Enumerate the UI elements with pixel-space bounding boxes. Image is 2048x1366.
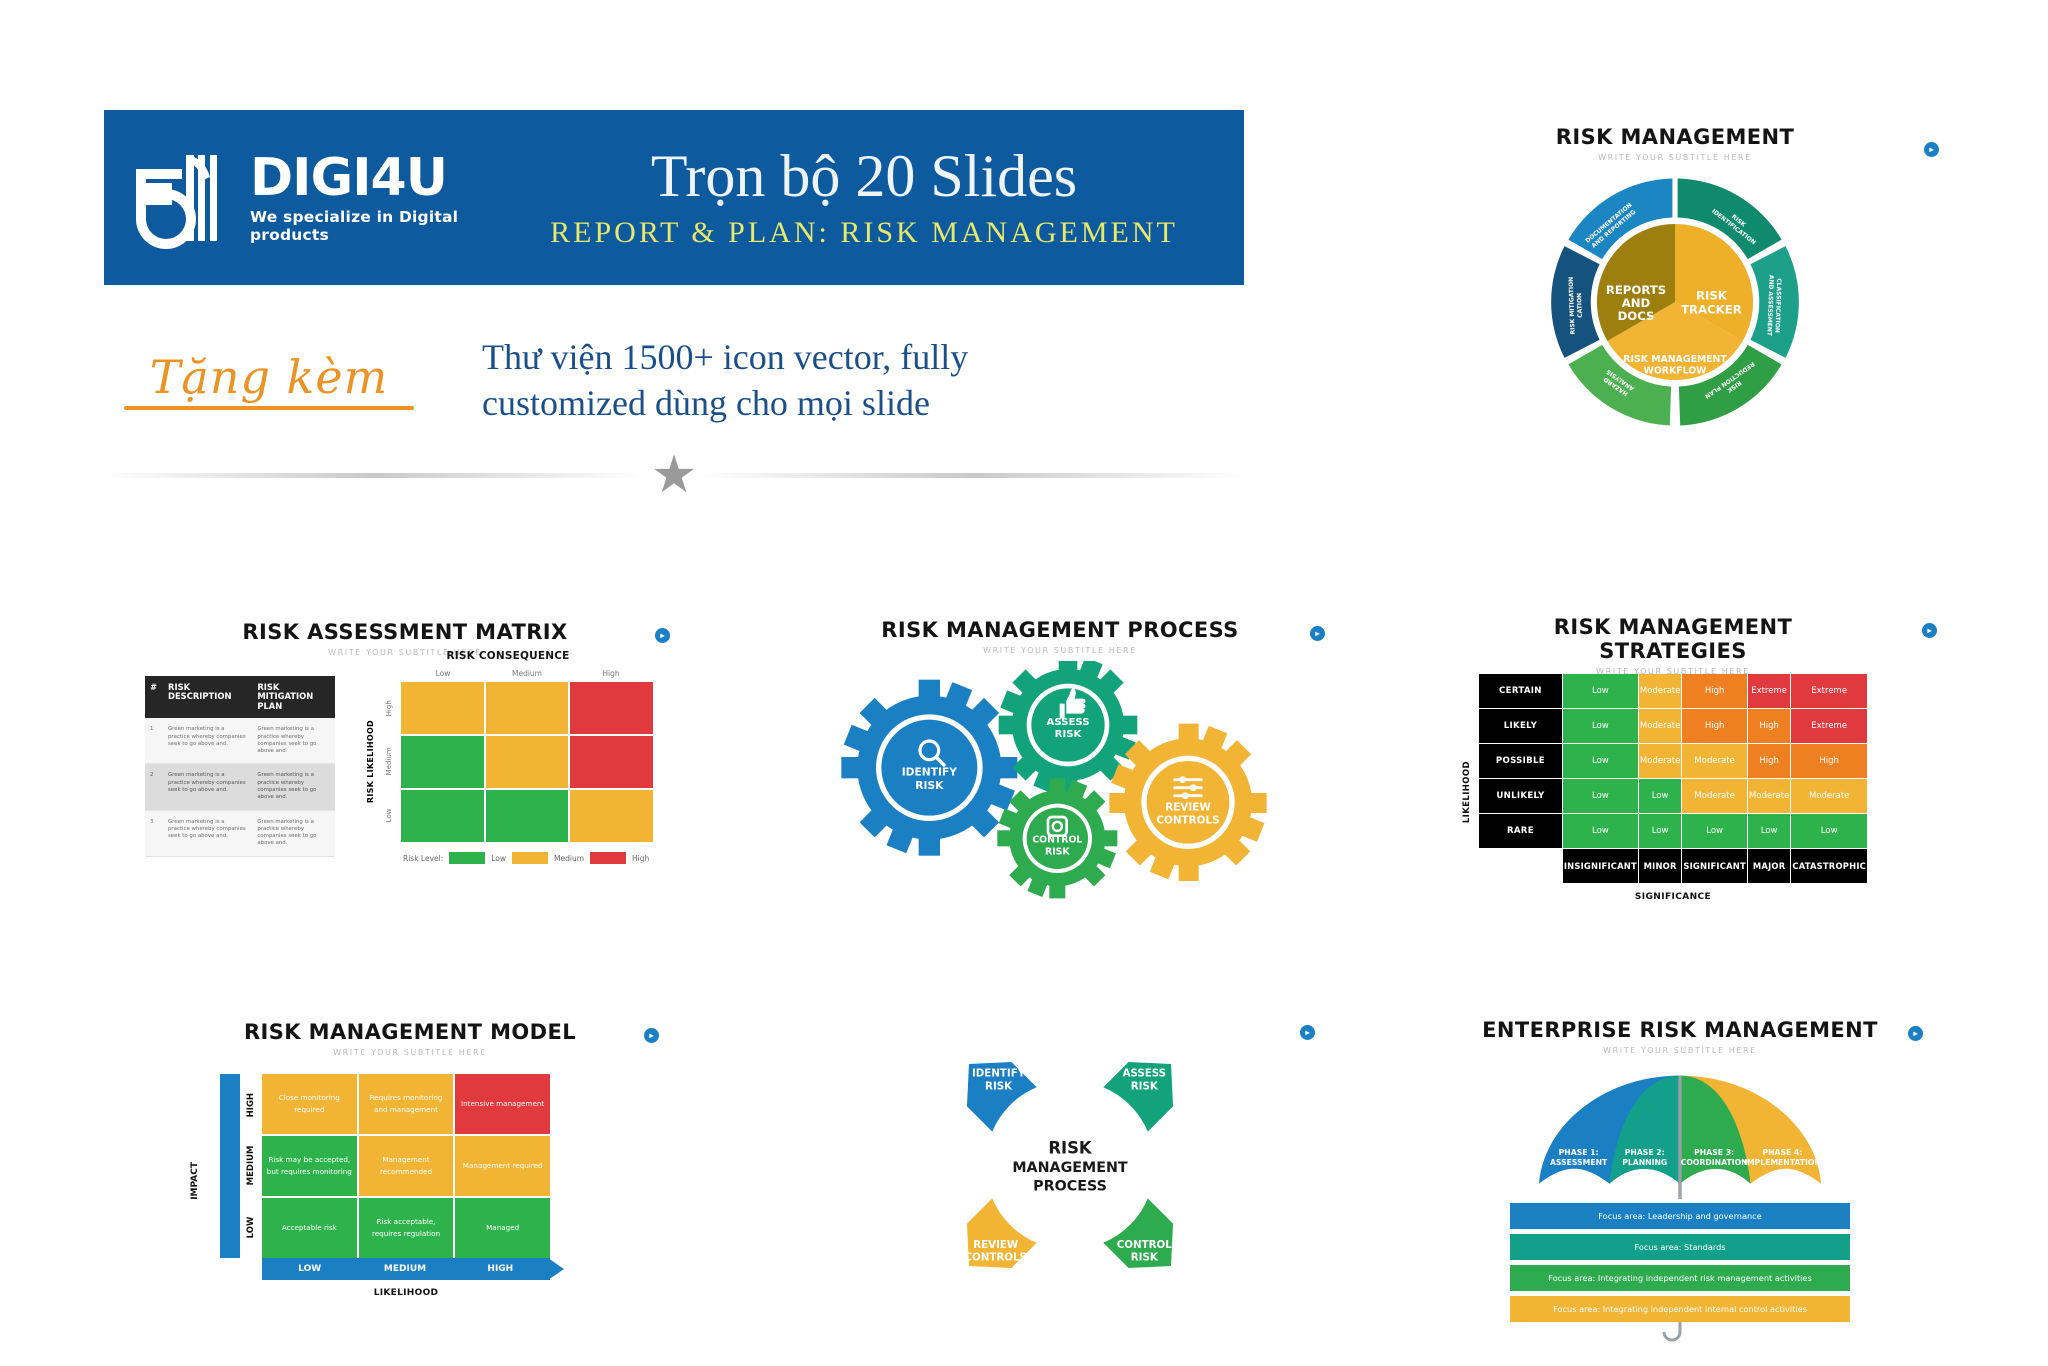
svg-text:PHASE 2:: PHASE 2: <box>1625 1148 1665 1157</box>
slide-risk-model[interactable]: RISK MANAGEMENT MODEL WRITE YOUR SUBTITL… <box>210 1020 610 1320</box>
umbrella-handle-icon <box>1660 1322 1700 1344</box>
bonus-description: Thư viện 1500+ icon vector, fully custom… <box>434 334 1244 426</box>
impact-axis-label: IMPACT <box>190 1162 200 1200</box>
y-label: LOW <box>240 1197 262 1258</box>
x-label: High <box>569 669 653 678</box>
table-row[interactable]: 3 Green marketing is a practice whereby … <box>145 810 335 856</box>
matrix-cell[interactable]: High <box>1748 744 1790 778</box>
likelihood-axis-label: LIKELIHOOD <box>262 1288 550 1298</box>
slide-title: RISK MANAGEMENT PROCESS <box>830 618 1290 642</box>
cell-mitigation: Green marketing is a practice whereby co… <box>252 764 335 810</box>
model-cells: Close monitoring required Requires monit… <box>262 1074 550 1258</box>
matrix-cell[interactable]: Moderate <box>1791 779 1867 813</box>
bonus-script-text: Tặng kèm <box>104 350 434 404</box>
row-label: UNLIKELY <box>1479 779 1562 813</box>
col-index: # <box>145 676 163 718</box>
table-row[interactable]: 1 Green marketing is a practice whereby … <box>145 718 335 764</box>
grid-cell[interactable] <box>486 790 569 842</box>
impact-likelihood-grid: IMPACT HIGH MEDIUM LOW Close monitoring … <box>220 1074 550 1298</box>
svg-text:AND: AND <box>1622 296 1651 310</box>
x-label: HIGH <box>453 1264 548 1274</box>
cell-description: Green marketing is a practice whereby co… <box>163 764 252 810</box>
x-label: LOW <box>262 1264 357 1274</box>
model-cell[interactable]: Management required <box>455 1136 550 1196</box>
model-cell[interactable]: Risk acceptable, requires regulation <box>359 1198 454 1258</box>
risk-management-donut: REPORTS AND DOCS RISK TRACKER RISK MANAG… <box>1480 172 1870 432</box>
slide-badge[interactable]: ▸ <box>644 1028 659 1043</box>
svg-text:REPORTS: REPORTS <box>1606 283 1666 297</box>
matrix-cell[interactable]: High <box>1748 709 1790 743</box>
svg-text:IMPLEMENTATION: IMPLEMENTATION <box>1744 1158 1821 1167</box>
grid-cell[interactable] <box>570 736 653 788</box>
column-label: MINOR <box>1639 849 1681 883</box>
poster-subtitle: REPORT & PLAN: RISK MANAGEMENT <box>504 216 1224 250</box>
svg-text:REVIEW: REVIEW <box>1165 801 1211 813</box>
y-label: MEDIUM <box>240 1135 262 1196</box>
strategies-table[interactable]: CERTAIN Low Moderate High Extreme Extrem… <box>1478 673 1868 884</box>
slide-risk-management[interactable]: RISK MANAGEMENT WRITE YOUR SUBTITLE HERE… <box>1480 125 1870 435</box>
matrix-cell[interactable]: Extreme <box>1748 674 1790 708</box>
matrix-cell[interactable]: Low <box>1563 744 1638 778</box>
row-label: RARE <box>1479 814 1562 848</box>
matrix-cell[interactable]: Low <box>1682 814 1747 848</box>
banner-title-block: Trọn bộ 20 Slides REPORT & PLAN: RISK MA… <box>504 145 1244 250</box>
svg-text:COORDINATION: COORDINATION <box>1681 1158 1748 1167</box>
cell-description: Green marketing is a practice whereby co… <box>163 810 252 856</box>
column-label: CATASTROPHIC <box>1791 849 1867 883</box>
x-axis-arrow: LOW MEDIUM HIGH <box>262 1258 550 1280</box>
matrix-cell[interactable]: Low <box>1791 814 1867 848</box>
poster-canvas: DIGI4U We specialize in Digital products… <box>0 0 2048 1366</box>
y-axis-arrow <box>220 1074 240 1258</box>
brand-name: DIGI4U <box>250 152 504 204</box>
cell-index: 1 <box>145 718 163 764</box>
bonus-row: Tặng kèm Thư viện 1500+ icon vector, ful… <box>104 325 1244 435</box>
svg-text:ASSESS: ASSESS <box>1122 1067 1166 1079</box>
slide-process-cycle[interactable]: ▸ RISK MANAGEMENT PROCESS IDENTIFY RISK … <box>880 1015 1260 1320</box>
col-mitigation: RISK MITIGATION PLAN <box>252 676 335 718</box>
slide-subtitle: WRITE YOUR SUBTITLE HERE <box>1480 153 1870 162</box>
y-label: HIGH <box>240 1074 262 1135</box>
strategies-matrix: LIKELIHOOD CERTAIN Low Moderate High Ext… <box>1478 673 1868 902</box>
legend-swatch-high <box>590 852 626 864</box>
legend-label: High <box>632 854 649 863</box>
matrix-cell[interactable]: High <box>1791 744 1867 778</box>
column-label: MAJOR <box>1748 849 1790 883</box>
row-label: LIKELY <box>1479 709 1562 743</box>
matrix-cell[interactable]: Low <box>1563 674 1638 708</box>
slide-subtitle: WRITE YOUR SUBTITLE HERE <box>830 646 1290 655</box>
model-cell[interactable]: Risk may be accepted, but requires monit… <box>262 1136 357 1196</box>
model-cell[interactable]: Acceptable risk <box>262 1198 357 1258</box>
poster-title: Trọn bộ 20 Slides <box>504 145 1224 208</box>
table-row[interactable]: POSSIBLE Low Moderate Moderate High High <box>1479 744 1867 778</box>
risk-consequence-grid: RISK CONSEQUENCE Low Medium High RISK LI… <box>363 650 653 864</box>
slide-subtitle: WRITE YOUR SUBTITLE HERE <box>1480 1046 1880 1055</box>
svg-text:RISK: RISK <box>1055 729 1083 740</box>
identify-risk-gear: IDENTIFY RISK <box>841 680 1017 856</box>
slide-title: RISK MANAGEMENT MODEL <box>210 1020 610 1044</box>
row-label: CERTAIN <box>1479 674 1562 708</box>
control-risk-gear: CONTROL RISK <box>997 778 1117 898</box>
risk-register-table[interactable]: # RISK DESCRIPTION RISK MITIGATION PLAN … <box>145 676 335 857</box>
grid-cell[interactable] <box>401 790 484 842</box>
svg-text:CONTROL: CONTROL <box>1032 834 1082 845</box>
grid-cell[interactable] <box>401 682 484 734</box>
grid-legend: Risk Level: Low Medium High <box>403 852 653 864</box>
brand-text: DIGI4U We specialize in Digital products <box>250 152 504 244</box>
slide-subtitle: WRITE YOUR SUBTITLE HERE <box>210 1048 610 1057</box>
svg-text:PROCESS: PROCESS <box>1033 1179 1107 1195</box>
section-divider: ★ <box>104 455 1244 495</box>
svg-text:CATION: CATION <box>1576 293 1584 318</box>
svg-text:RISK: RISK <box>1131 1080 1159 1092</box>
model-cell[interactable]: Management recommended <box>359 1136 454 1196</box>
svg-text:ASSESSMENT: ASSESSMENT <box>1550 1158 1608 1167</box>
svg-text:RISK: RISK <box>915 779 944 792</box>
svg-text:RISK MANAGEMENT: RISK MANAGEMENT <box>1623 354 1727 365</box>
grid-y-labels: High Medium Low <box>377 682 401 842</box>
bonus-underline <box>124 406 414 410</box>
x-label: Low <box>401 669 485 678</box>
matrix-cell[interactable]: Extreme <box>1791 709 1867 743</box>
table-footer-row: INSIGNIFICANT MINOR SIGNIFICANT MAJOR CA… <box>1479 849 1867 883</box>
cell-index: 3 <box>145 810 163 856</box>
grid-cells <box>401 682 653 842</box>
column-label: SIGNIFICANT <box>1682 849 1747 883</box>
focus-bar[interactable]: Focus area: Standards <box>1510 1234 1850 1260</box>
slide-badge[interactable]: ▸ <box>1300 1025 1315 1040</box>
slide-enterprise-risk[interactable]: ENTERPRISE RISK MANAGEMENT WRITE YOUR SU… <box>1480 1018 1880 1318</box>
svg-text:PHASE 4:: PHASE 4: <box>1762 1148 1802 1157</box>
svg-text:IDENTIFY: IDENTIFY <box>972 1067 1026 1079</box>
legend-swatch-low <box>449 852 485 864</box>
slide-title: RISK MANAGEMENT <box>1480 125 1870 149</box>
y-label: Low <box>377 789 401 842</box>
focus-bar[interactable]: Focus area: Leadership and governance <box>1510 1203 1850 1229</box>
y-label: Medium <box>377 735 401 788</box>
svg-text:DOCS: DOCS <box>1618 309 1655 323</box>
svg-text:RISK: RISK <box>1696 288 1728 302</box>
slide-badge[interactable]: ▸ <box>655 628 670 643</box>
cell-index: 2 <box>145 764 163 810</box>
matrix-cell[interactable]: High <box>1682 709 1747 743</box>
grid-cell[interactable] <box>570 790 653 842</box>
svg-text:CONTROL: CONTROL <box>1117 1239 1172 1251</box>
table-row[interactable]: UNLIKELY Low Low Moderate Moderate Moder… <box>1479 779 1867 813</box>
svg-text:RISK: RISK <box>1045 846 1070 857</box>
brand-tagline: We specialize in Digital products <box>250 208 504 244</box>
table-header-row: # RISK DESCRIPTION RISK MITIGATION PLAN <box>145 676 335 718</box>
matrix-cell[interactable]: Low <box>1563 709 1638 743</box>
model-cell[interactable]: Managed <box>455 1198 550 1258</box>
review-controls-gear: REVIEW CONTROLS <box>1109 724 1266 881</box>
y-axis-labels: HIGH MEDIUM LOW <box>240 1074 262 1258</box>
bonus-line-2: customized dùng cho mọi slide <box>482 380 1244 426</box>
matrix-cell[interactable]: Low <box>1748 814 1790 848</box>
slide-process-gears[interactable]: RISK MANAGEMENT PROCESS WRITE YOUR SUBTI… <box>830 618 1290 918</box>
grid-x-labels: Low Medium High <box>401 669 653 678</box>
column-label: INSIGNIFICANT <box>1563 849 1638 883</box>
matrix-cell[interactable]: Low <box>1563 814 1638 848</box>
brand-logo: DIGI4U We specialize in Digital products <box>104 139 504 257</box>
cell-description: Green marketing is a practice whereby co… <box>163 718 252 764</box>
likelihood-axis-label: LIKELIHOOD <box>1462 717 1472 867</box>
matrix-cell[interactable]: Moderate <box>1639 709 1681 743</box>
slide-badge[interactable]: ▸ <box>1908 1026 1923 1041</box>
svg-text:PHASE 1:: PHASE 1: <box>1559 1148 1599 1157</box>
x-axis-labels: LOW MEDIUM HIGH <box>262 1264 548 1274</box>
slide-badge[interactable]: ▸ <box>1310 626 1325 641</box>
grid-cell[interactable] <box>570 682 653 734</box>
svg-text:PLANNING: PLANNING <box>1622 1158 1667 1167</box>
slide-badge[interactable]: ▸ <box>1924 142 1939 157</box>
matrix-cell[interactable]: Low <box>1639 779 1681 813</box>
svg-text:REVIEW: REVIEW <box>973 1239 1018 1251</box>
cell-mitigation: Green marketing is a practice whereby co… <box>252 718 335 764</box>
svg-text:CONTROLS: CONTROLS <box>965 1252 1027 1264</box>
matrix-cell[interactable]: Moderate <box>1748 779 1790 813</box>
slide-badge[interactable]: ▸ <box>1922 623 1937 638</box>
matrix-cell[interactable]: Moderate <box>1682 744 1747 778</box>
divider-line-right <box>703 473 1244 478</box>
grid-y-axis-title: RISK LIKELIHOOD <box>363 682 377 842</box>
svg-text:CONTROLS: CONTROLS <box>1156 815 1219 827</box>
digi4u-logo-icon <box>128 139 240 257</box>
slide-assessment-matrix[interactable]: RISK ASSESSMENT MATRIX WRITE YOUR SUBTIT… <box>145 620 665 910</box>
legend-label: Low <box>491 854 506 863</box>
table-row[interactable]: 2 Green marketing is a practice whereby … <box>145 764 335 810</box>
bonus-script-label: Tặng kèm <box>104 350 434 410</box>
row-label: POSSIBLE <box>1479 744 1562 778</box>
legend-label: Medium <box>554 854 584 863</box>
svg-text:RISK: RISK <box>1048 1139 1093 1158</box>
y-label: High <box>377 682 401 735</box>
significance-axis-label: SIGNIFICANCE <box>1478 892 1868 902</box>
grid-title: RISK CONSEQUENCE <box>363 650 653 662</box>
matrix-cell[interactable]: Moderate <box>1639 744 1681 778</box>
svg-text:IDENTIFY: IDENTIFY <box>902 766 958 779</box>
x-label: MEDIUM <box>357 1264 452 1274</box>
cell-mitigation: Green marketing is a practice whereby co… <box>252 810 335 856</box>
bonus-line-1: Thư viện 1500+ icon vector, fully <box>482 334 1244 380</box>
star-icon: ★ <box>645 449 703 501</box>
col-description: RISK DESCRIPTION <box>163 676 252 718</box>
model-cell[interactable]: Requires monitoring and management <box>359 1074 454 1134</box>
focus-bar[interactable]: Focus area: Integrating independent risk… <box>1510 1265 1850 1291</box>
slide-strategies[interactable]: RISK MANAGEMENT STRATEGIES WRITE YOUR SU… <box>1478 615 1868 905</box>
svg-text:MANAGEMENT: MANAGEMENT <box>1012 1160 1128 1176</box>
cycle-diagram: RISK MANAGEMENT PROCESS IDENTIFY RISK AS… <box>880 1015 1260 1315</box>
slide-title: RISK ASSESSMENT MATRIX <box>145 620 665 644</box>
x-label: Medium <box>485 669 569 678</box>
svg-text:RISK: RISK <box>985 1080 1013 1092</box>
corner-cell <box>1479 849 1562 883</box>
header-banner: DIGI4U We specialize in Digital products… <box>104 110 1244 285</box>
svg-text:WORKFLOW: WORKFLOW <box>1644 366 1708 377</box>
slide-title: ENTERPRISE RISK MANAGEMENT <box>1480 1018 1880 1042</box>
matrix-cell[interactable]: Moderate <box>1682 779 1747 813</box>
svg-text:ASSESS: ASSESS <box>1046 717 1089 728</box>
focus-bar[interactable]: Focus area: Integrating independent inte… <box>1510 1296 1850 1322</box>
matrix-cell[interactable]: Low <box>1639 814 1681 848</box>
legend-title: Risk Level: <box>403 854 443 863</box>
model-cell[interactable]: Intensive management <box>455 1074 550 1134</box>
divider-line-left <box>104 473 645 478</box>
table-row[interactable]: LIKELY Low Moderate High High Extreme <box>1479 709 1867 743</box>
svg-text:RISK: RISK <box>1131 1252 1159 1264</box>
grid-cell[interactable] <box>486 682 569 734</box>
matrix-cell[interactable]: High <box>1682 674 1747 708</box>
matrix-cell[interactable]: Moderate <box>1639 674 1681 708</box>
table-row[interactable]: RARE Low Low Low Low Low <box>1479 814 1867 848</box>
grid-cell[interactable] <box>486 736 569 788</box>
svg-text:PHASE 3:: PHASE 3: <box>1694 1148 1734 1157</box>
grid-cell[interactable] <box>401 736 484 788</box>
svg-text:TRACKER: TRACKER <box>1681 303 1742 317</box>
slide-title: RISK MANAGEMENT STRATEGIES <box>1478 615 1868 663</box>
gears-diagram: IDENTIFY RISK <box>830 661 1290 901</box>
matrix-cell[interactable]: Extreme <box>1791 674 1867 708</box>
model-cell[interactable]: Close monitoring required <box>262 1074 357 1134</box>
matrix-cell[interactable]: Low <box>1563 779 1638 813</box>
focus-area-bars: Focus area: Leadership and governance Fo… <box>1510 1203 1850 1322</box>
legend-swatch-medium <box>512 852 548 864</box>
table-row[interactable]: CERTAIN Low Moderate High Extreme Extrem… <box>1479 674 1867 708</box>
umbrella-icon: PHASE 1: ASSESSMENT PHASE 2: PLANNING PH… <box>1510 1069 1850 1199</box>
